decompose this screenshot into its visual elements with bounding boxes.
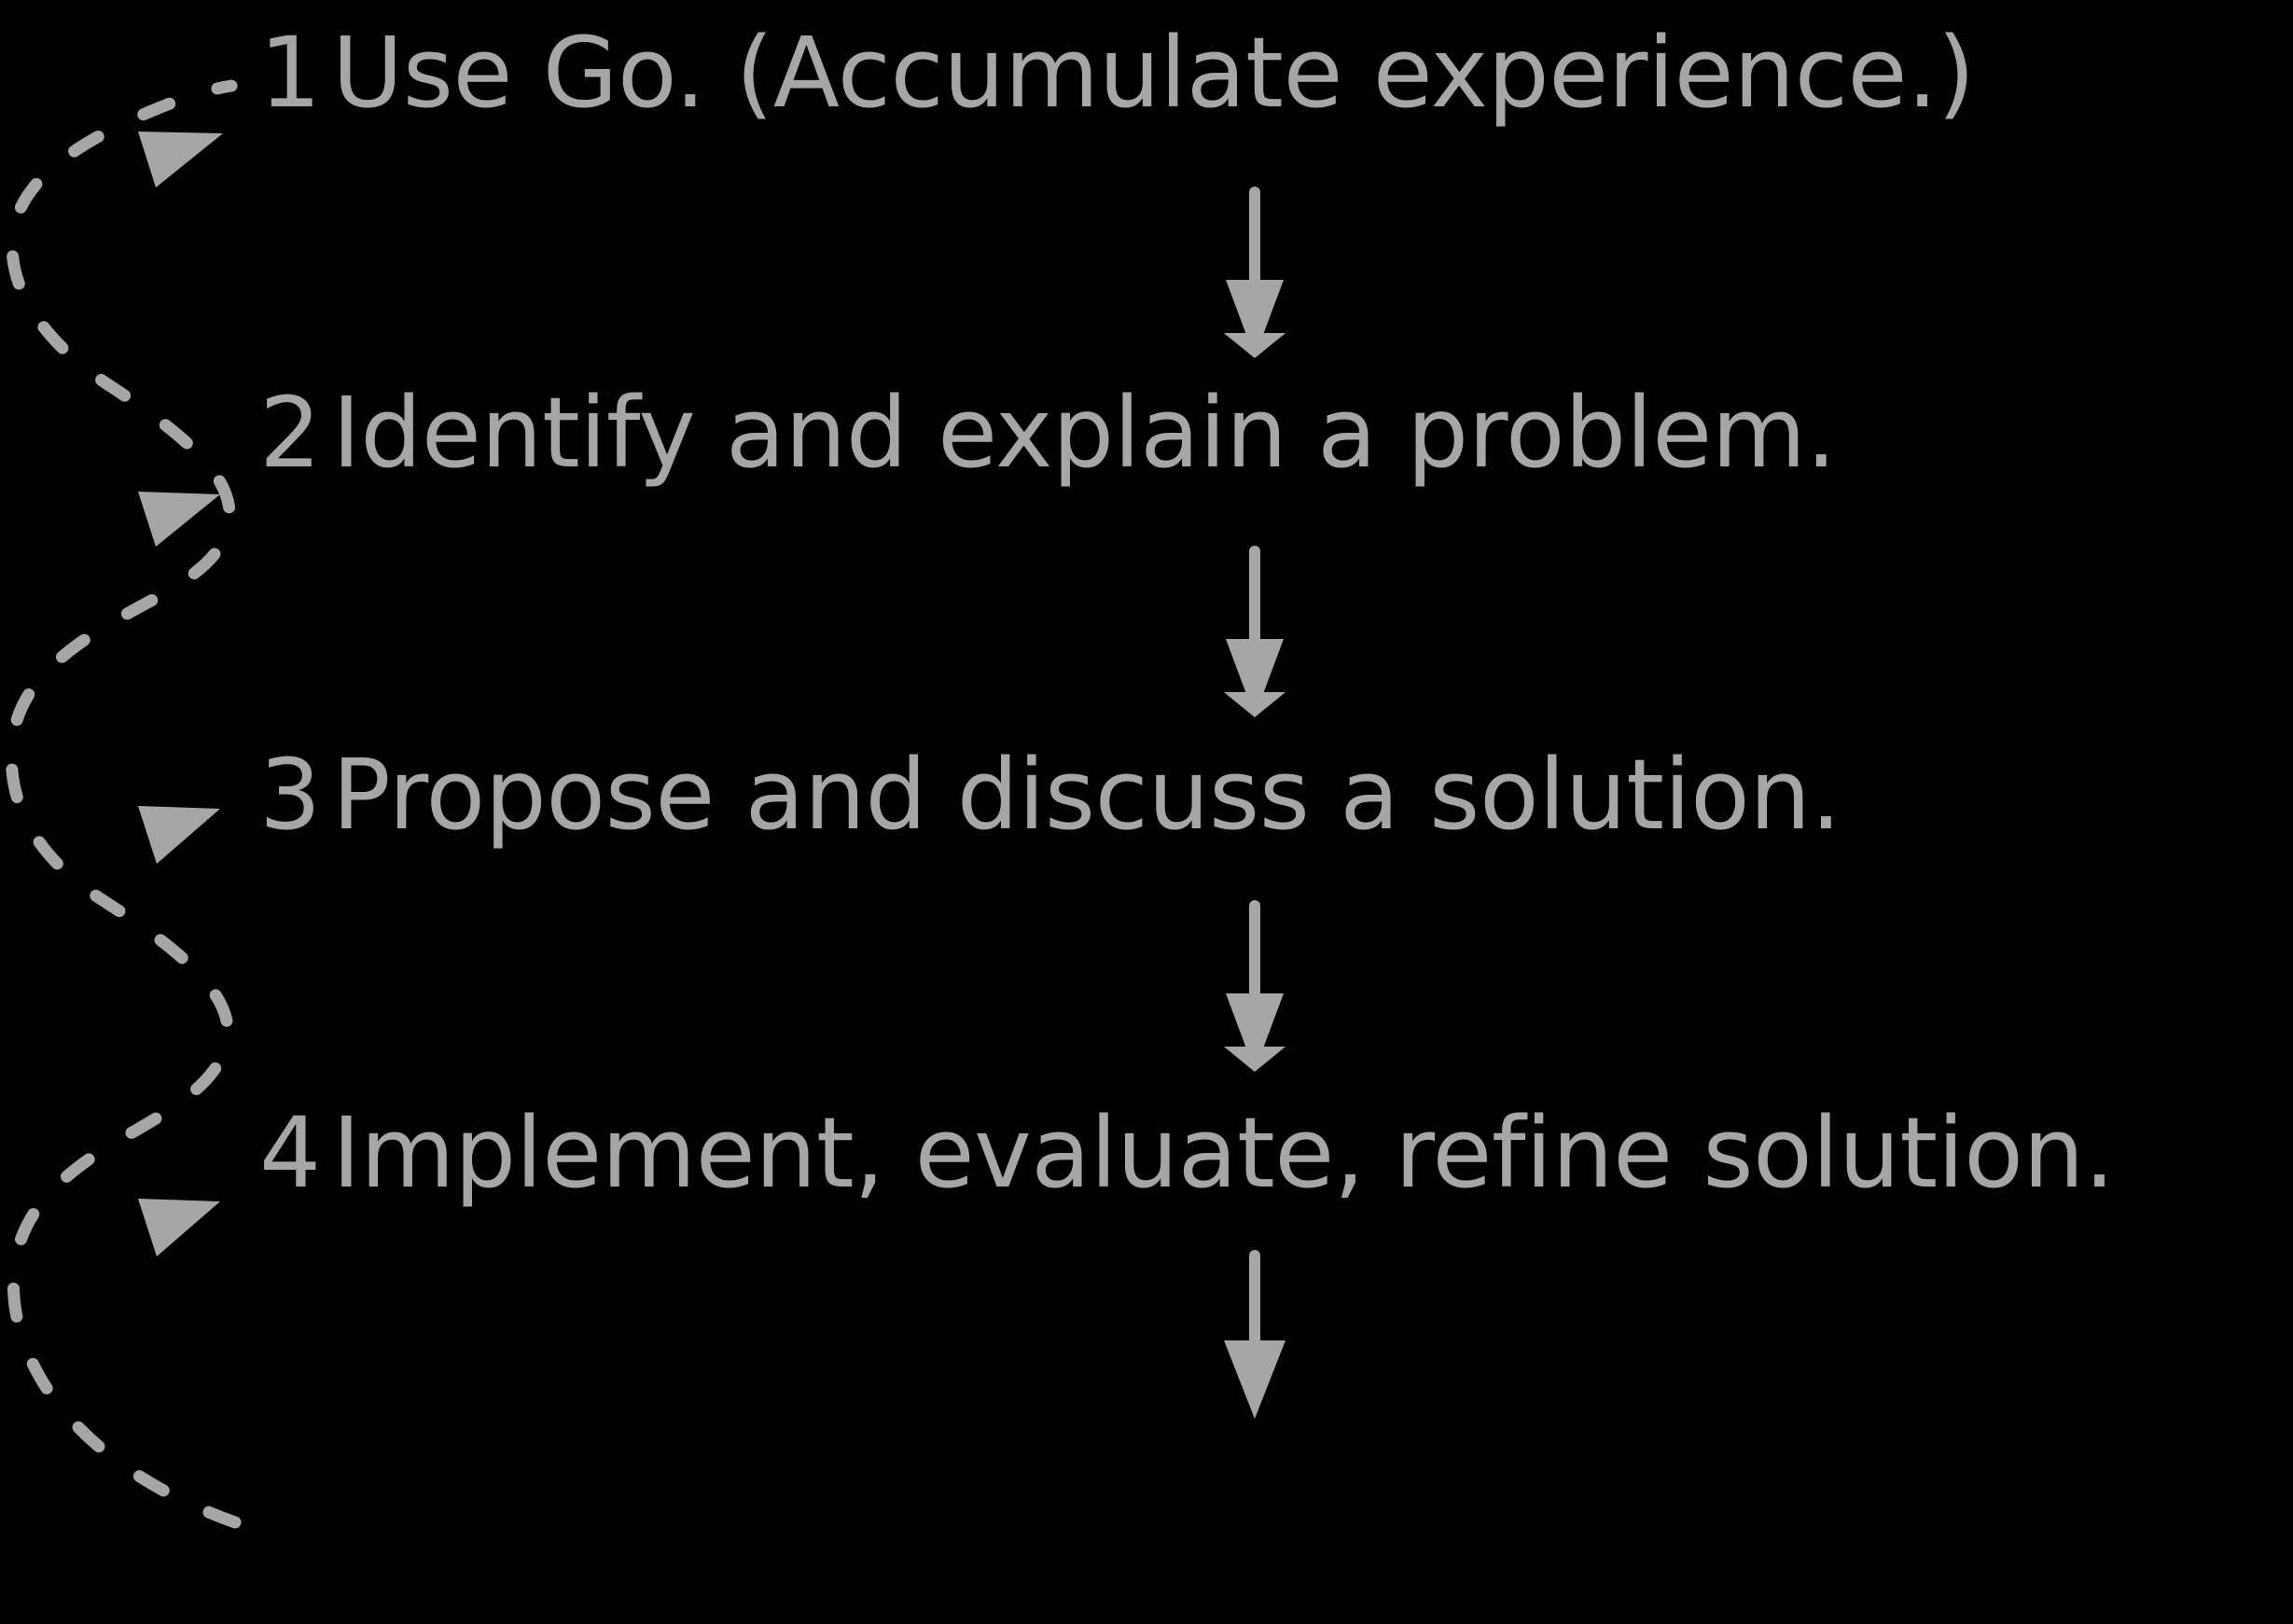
feedback-loop-dashed-path (11, 86, 235, 1522)
step-number-4: 4 (259, 1104, 332, 1201)
feedback-arrowhead-step-1 (138, 132, 223, 187)
step-label-1: Use Go. (Accumulate experience.) (332, 24, 1975, 121)
step-item-4: 4 Implement, evaluate, refine solution. (259, 1104, 2115, 1201)
feedback-arrowhead-step-2 (138, 492, 220, 547)
step-item-1: 1 Use Go. (Accumulate experience.) (259, 24, 1975, 121)
diagram-canvas: 1 Use Go. (Accumulate experience.) 2 Ide… (0, 0, 2293, 1624)
feedback-arrowhead-step-4 (138, 1199, 220, 1256)
step-label-2: Identify and explain a problem. (332, 384, 1836, 481)
feedback-arrowhead-step-3 (138, 806, 220, 864)
step-label-4: Implement, evaluate, refine solution. (332, 1104, 2115, 1201)
flow-arrow-3 (1224, 900, 1285, 1072)
step-item-2: 2 Identify and explain a problem. (259, 384, 1836, 481)
step-label-3: Propose and discuss a solution. (332, 746, 1841, 843)
flow-arrow-1 (1224, 187, 1285, 358)
step-item-3: 3 Propose and discuss a solution. (259, 746, 1841, 843)
step-number-2: 2 (259, 384, 332, 481)
step-number-3: 3 (259, 746, 332, 843)
flow-arrow-4 (1224, 1250, 1285, 1419)
flow-arrow-2 (1224, 546, 1285, 717)
step-number-1: 1 (259, 24, 332, 121)
